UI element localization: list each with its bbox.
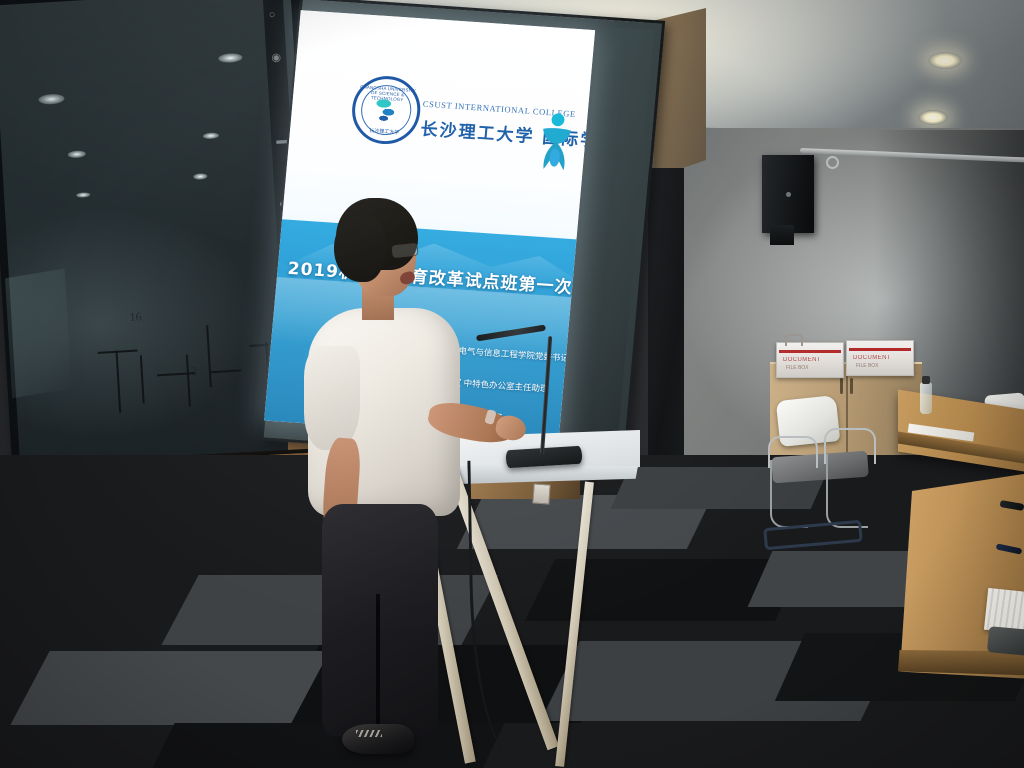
box-sublabel: FILE BOX	[856, 363, 879, 369]
carpet-tile	[10, 651, 329, 725]
chair-frame	[770, 460, 808, 528]
presenter-left-sleeve	[304, 346, 360, 450]
board-eraser[interactable]	[987, 626, 1024, 656]
visitor-chair[interactable]	[762, 398, 884, 548]
cabinet-handle[interactable]	[840, 378, 843, 394]
whiteboard-note: 2φ	[249, 306, 267, 325]
bottle-cap	[922, 376, 930, 384]
light-reflection	[38, 93, 65, 105]
classroom-photo: DOCUMENT FILE BOX DOCUMENT FILE BOX	[0, 0, 1024, 768]
box-label: DOCUMENT	[853, 355, 891, 361]
box-label: DOCUMENT	[783, 357, 821, 363]
box-stripe	[779, 350, 841, 353]
rail-marker-icon: ○	[269, 9, 276, 21]
marker-stroke	[157, 372, 195, 376]
file-box: DOCUMENT FILE BOX	[776, 342, 844, 378]
presenter-shoelaces	[356, 730, 382, 737]
marker-stroke	[98, 350, 138, 354]
conduit-clip	[826, 156, 839, 169]
presenter-glasses	[391, 243, 418, 259]
file-box: DOCUMENT FILE BOX	[846, 340, 914, 376]
presenter	[300, 198, 480, 768]
chair-frame	[826, 454, 868, 528]
marker-stroke	[140, 355, 145, 403]
box-sublabel: FILE BOX	[786, 365, 809, 371]
light-reflection	[218, 53, 242, 63]
international-college-logo-icon	[533, 108, 579, 176]
light-reflection	[193, 173, 207, 180]
box-handle	[785, 334, 803, 346]
light-reflection	[76, 192, 90, 198]
rail-marker-icon: ◉	[271, 51, 281, 65]
crest-swirl-mark	[370, 93, 403, 127]
box-stripe	[849, 348, 911, 351]
whiteboard-note: 3	[190, 364, 197, 379]
marker-stroke	[116, 351, 122, 413]
presenter-hair-front	[334, 216, 386, 282]
light-reflection	[68, 150, 86, 158]
marker-stroke	[186, 355, 191, 407]
presenter-trousers	[322, 504, 438, 736]
ceiling-downlight	[918, 110, 948, 125]
speaker-bracket	[770, 225, 794, 245]
whiteboard-note: 16	[129, 309, 142, 325]
marker-stroke	[206, 325, 212, 387]
speaker-indicator	[786, 192, 791, 197]
ceiling-downlight	[928, 52, 962, 69]
window-reflection	[5, 269, 72, 399]
water-bottle[interactable]	[920, 382, 932, 414]
presenter-shoe	[342, 724, 414, 754]
crest-abbr-text: 长沙理工大学	[353, 126, 415, 137]
presenter-leg-separation	[376, 594, 380, 730]
light-reflection	[203, 132, 219, 139]
cabinet-handle[interactable]	[850, 378, 853, 394]
marker-stroke	[211, 369, 241, 373]
